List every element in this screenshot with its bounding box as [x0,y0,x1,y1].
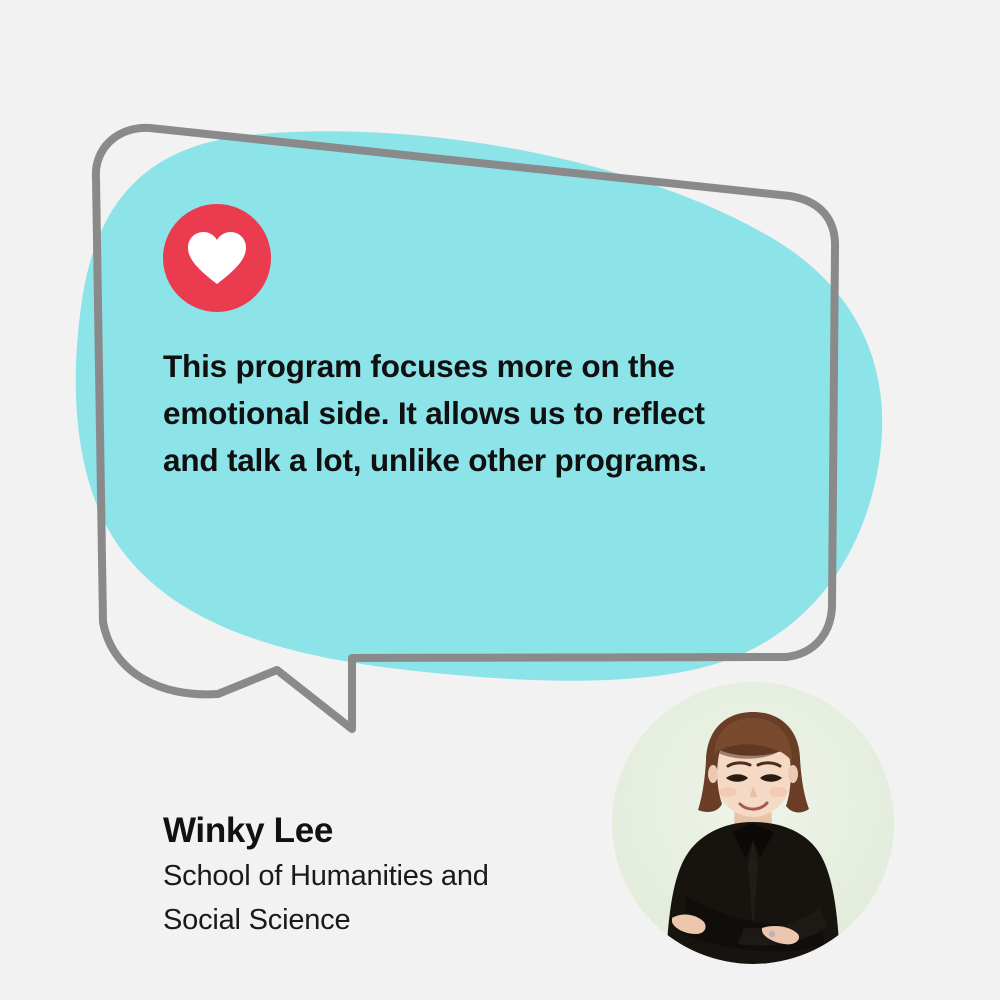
heart-icon [186,230,248,286]
quote-line-1: This program focuses more on the [163,343,793,390]
quote-line-2: emotional side. It allows us to reflect [163,390,793,437]
quote-line-3: and talk a lot, unlike other programs. [163,437,793,484]
avatar-portrait [612,682,894,964]
attribution-block: Winky Lee School of Humanities and Socia… [163,808,583,942]
testimonial-card: This program focuses more on the emotion… [0,0,1000,1000]
person-affiliation-line-1: School of Humanities and [163,854,583,898]
heart-badge [163,204,271,312]
person-affiliation-line-2: Social Science [163,898,583,942]
quote-text: This program focuses more on the emotion… [163,343,793,484]
avatar [612,682,894,964]
person-name: Winky Lee [163,808,583,854]
